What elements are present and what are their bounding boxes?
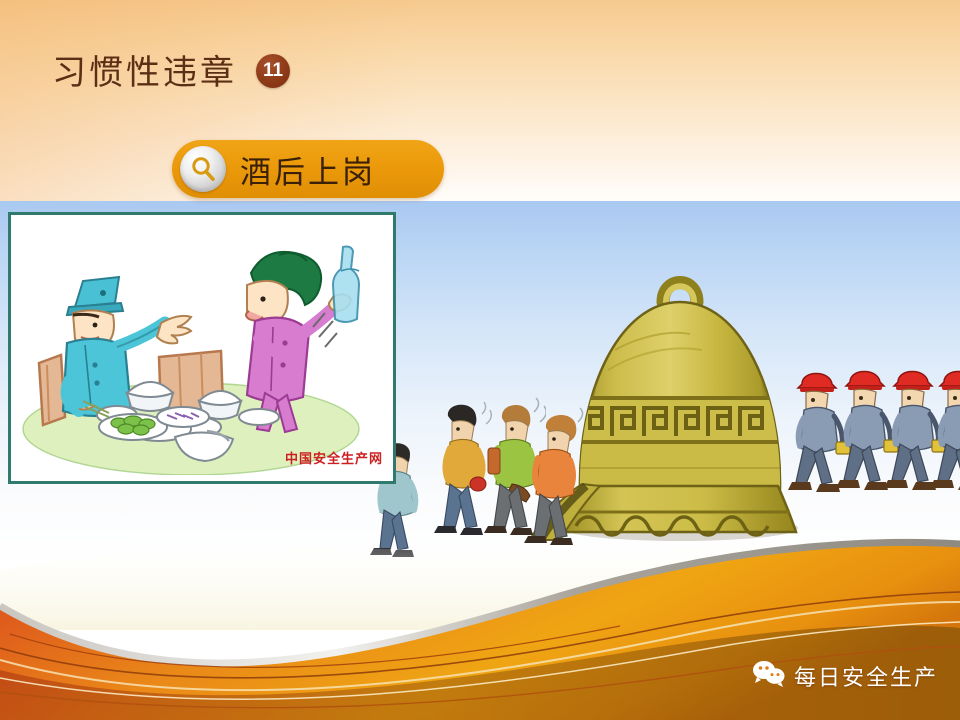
casual-person [516, 404, 586, 559]
cartoon-watermark: 中国安全生产网 [285, 448, 383, 467]
cartoon-illustration [11, 215, 393, 481]
topic-button[interactable]: 酒后上岗 [172, 140, 444, 198]
header-band [0, 0, 960, 201]
status-badge: 11 [256, 54, 290, 88]
topic-button-label: 酒后上岗 [240, 147, 376, 192]
slide-canvas: 习惯性违章 11 酒后上岗 [0, 0, 960, 720]
wechat-account-badge: 每日安全生产 [752, 659, 938, 692]
page-title: 习惯性违章 [52, 45, 237, 94]
worker-figure [924, 356, 960, 501]
wechat-icon [752, 659, 786, 692]
magnifier-icon [180, 146, 226, 192]
wechat-account-name: 每日安全生产 [794, 660, 938, 692]
cartoon-panel: 中国安全生产网 [8, 212, 396, 484]
